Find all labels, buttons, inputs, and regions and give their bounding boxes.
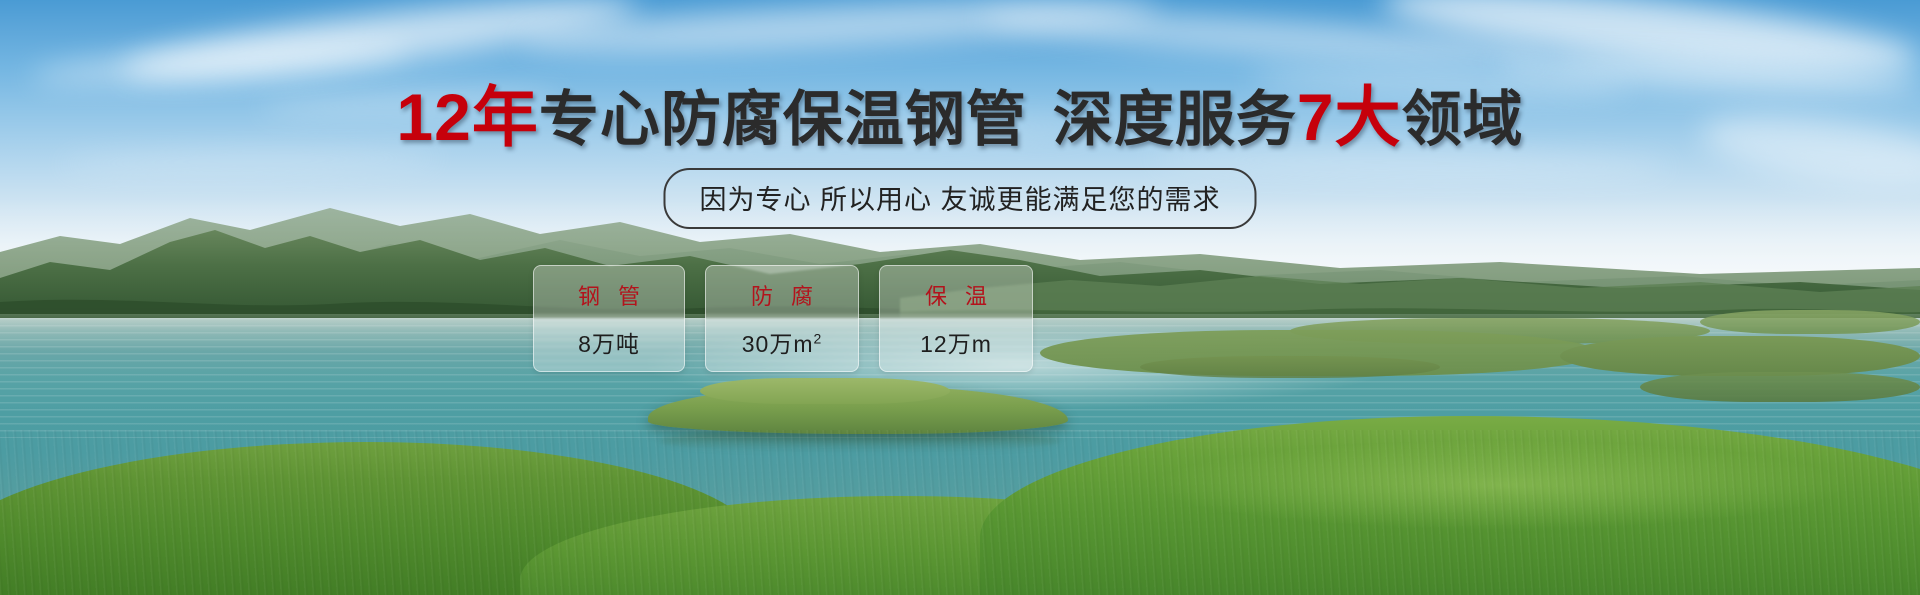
- stat-card-title: 防 腐: [745, 279, 819, 311]
- grass-island-top: [700, 378, 950, 404]
- marsh-patch: [1140, 356, 1440, 378]
- cloud-icon: [60, 147, 440, 176]
- banner-subtitle-pill: 因为专心 所以用心 友诚更能满足您的需求: [663, 168, 1256, 229]
- banner-headline: 12年专心防腐保温钢管深度服务7大领域: [0, 84, 1920, 150]
- marsh-patch: [1700, 310, 1920, 334]
- stat-card-value: 30万m2: [742, 325, 823, 359]
- foreground-grass: [0, 430, 1920, 595]
- stat-value-unit: 万吨: [592, 331, 640, 357]
- stat-card-title: 保 温: [919, 279, 993, 311]
- headline-main-text: 专心防腐保温钢管: [539, 86, 1027, 153]
- stat-card-steel-pipe[interactable]: 钢 管 8万吨: [533, 265, 685, 372]
- grass-texture: [0, 430, 1920, 595]
- headline-fields-highlight: 7大: [1297, 80, 1402, 154]
- headline-service-text: 深度服务: [1053, 86, 1297, 153]
- stat-card-value: 8万吨: [578, 325, 640, 359]
- headline-years-highlight: 12年: [396, 80, 538, 154]
- marsh-patch: [1560, 336, 1920, 376]
- stat-value-number: 8: [578, 331, 592, 357]
- stat-value-unit: 万m: [769, 331, 813, 357]
- stat-card-anticorrosion[interactable]: 防 腐 30万m2: [705, 265, 859, 372]
- stat-value-number: 12: [920, 331, 948, 357]
- stat-card-group: 钢 管 8万吨 防 腐 30万m2 保 温 12万m: [533, 265, 1033, 372]
- stat-value-unit: 万m: [948, 331, 992, 357]
- stat-card-title: 钢 管: [572, 279, 646, 311]
- headline-fields-text: 领域: [1402, 86, 1524, 153]
- stat-value-superscript: 2: [813, 330, 822, 346]
- stat-value-number: 30: [742, 331, 770, 357]
- stat-card-insulation[interactable]: 保 温 12万m: [879, 265, 1033, 372]
- marsh-patch: [1640, 372, 1920, 402]
- hero-banner: 12年专心防腐保温钢管深度服务7大领域 因为专心 所以用心 友诚更能满足您的需求…: [0, 0, 1920, 595]
- stat-card-value: 12万m: [920, 325, 992, 359]
